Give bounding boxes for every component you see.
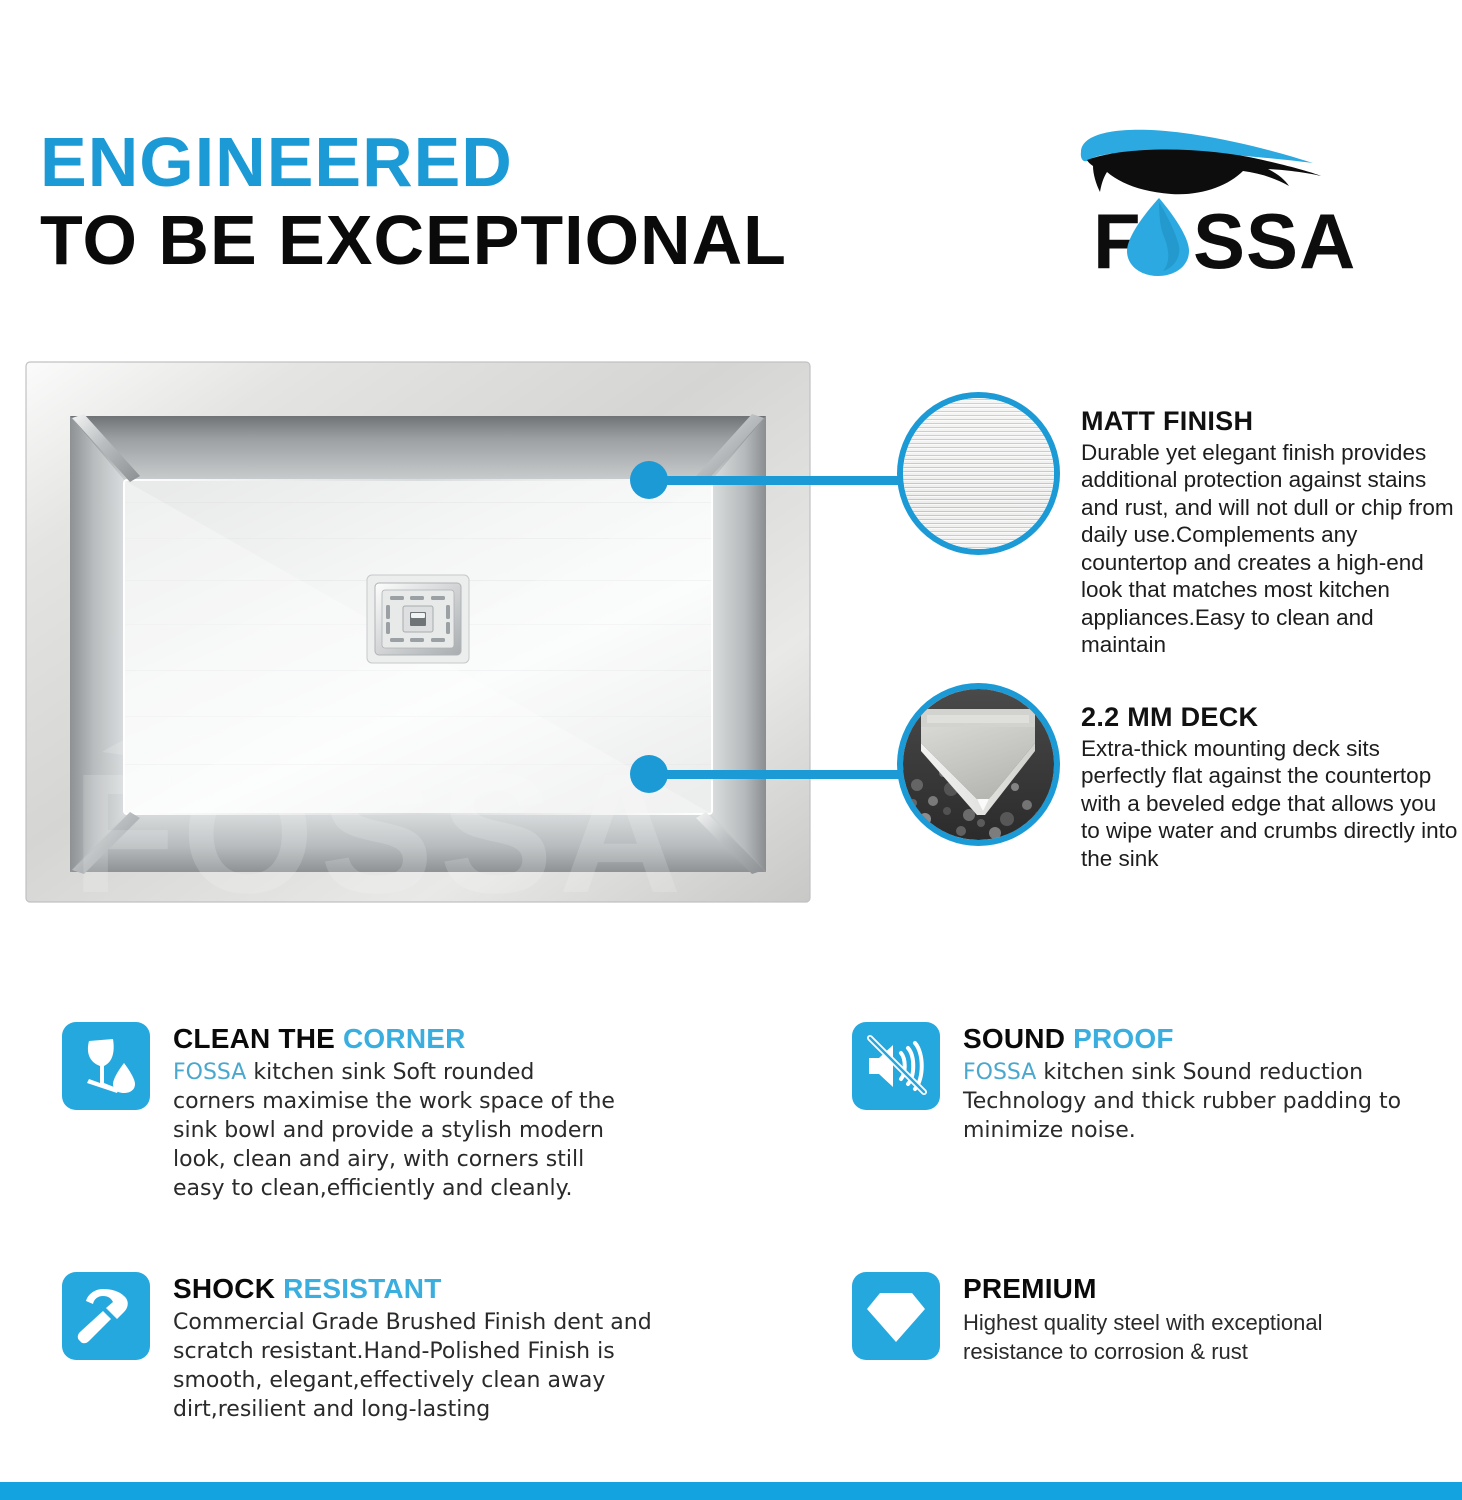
feature-title-black-part: SHOCK	[173, 1273, 283, 1304]
fossa-logo: F SSA	[1063, 116, 1363, 286]
diamond-icon	[852, 1272, 940, 1360]
feature-body-shock-resistant: Commercial Grade Brushed Finish dent and…	[173, 1308, 682, 1424]
watermark: FOSSA	[72, 708, 688, 912]
callout-body-matt-finish: Durable yet elegant finish provides addi…	[1081, 439, 1459, 659]
brand-mention: FOSSA	[173, 1060, 246, 1085]
feature-clean-the-corner: CLEAN THE CORNER FOSSA kitchen sink Soft…	[62, 1022, 622, 1203]
glass-and-water-drop-icon	[62, 1022, 150, 1110]
fossa-logo-mark: F SSA	[1063, 116, 1363, 286]
headline-line-1: ENGINEERED	[40, 128, 920, 197]
feature-title-black-part: PREMIUM	[963, 1273, 1097, 1304]
feature-title-blue-part: CORNER	[343, 1023, 466, 1054]
feature-shock-resistant: SHOCK RESISTANT Commercial Grade Brushed…	[62, 1272, 682, 1424]
feature-premium: PREMIUM Highest quality steel with excep…	[852, 1272, 1422, 1366]
hammer-icon	[62, 1272, 150, 1360]
feature-title-shock-resistant: SHOCK RESISTANT	[173, 1274, 682, 1305]
feature-text-sound-proof: SOUND PROOF FOSSA kitchen sink Sound red…	[963, 1022, 1422, 1145]
leader-dot-deck	[630, 755, 668, 793]
feature-sound-proof: SOUND PROOF FOSSA kitchen sink Sound red…	[852, 1022, 1422, 1145]
muted-speaker-icon	[852, 1022, 940, 1110]
brand-mention: FOSSA	[963, 1060, 1036, 1085]
feature-title-clean-the-corner: CLEAN THE CORNER	[173, 1024, 622, 1055]
callout-matt-finish: MATT FINISH Durable yet elegant finish p…	[1081, 406, 1459, 659]
feature-body-clean-the-corner: FOSSA kitchen sink Soft rounded corners …	[173, 1058, 622, 1203]
feature-title-blue-part: RESISTANT	[283, 1273, 441, 1304]
callout-title-deck: 2.2 MM DECK	[1081, 702, 1459, 733]
feature-title-blue-part: PROOF	[1073, 1023, 1174, 1054]
feature-body-sound-proof: FOSSA kitchen sink Sound reduction Techn…	[963, 1058, 1422, 1145]
feature-text-clean-the-corner: CLEAN THE CORNER FOSSA kitchen sink Soft…	[173, 1022, 622, 1203]
page-title: ENGINEERED TO BE EXCEPTIONAL	[40, 128, 920, 278]
matt-finish-thumbnail	[897, 392, 1060, 555]
feature-title-sound-proof: SOUND PROOF	[963, 1024, 1422, 1055]
callout-body-deck: Extra-thick mounting deck sits perfectly…	[1081, 735, 1459, 872]
headline-line-2: TO BE EXCEPTIONAL	[40, 203, 920, 279]
brushed-finish-swatch	[903, 398, 1054, 549]
feature-title-black-part: SOUND	[963, 1023, 1073, 1054]
kitchen-sink-illustration: FOSSA	[12, 352, 824, 912]
callout-deck: 2.2 MM DECK Extra-thick mounting deck si…	[1081, 702, 1459, 872]
deck-thumbnail	[897, 683, 1060, 846]
leader-line-matt-finish	[655, 476, 905, 485]
bottom-accent-bar	[0, 1482, 1462, 1500]
callout-title-matt-finish: MATT FINISH	[1081, 406, 1459, 437]
leader-dot-matt-finish	[630, 461, 668, 499]
feature-title-premium: PREMIUM	[963, 1274, 1422, 1305]
leader-line-deck	[655, 770, 905, 779]
feature-body-premium: Highest quality steel with exceptional r…	[963, 1308, 1422, 1366]
product-image: FOSSA	[12, 352, 824, 912]
feature-text-premium: PREMIUM Highest quality steel with excep…	[963, 1272, 1422, 1366]
svg-text:FOSSA: FOSSA	[72, 739, 688, 912]
feature-text-shock-resistant: SHOCK RESISTANT Commercial Grade Brushed…	[173, 1272, 682, 1424]
feature-title-black-part: CLEAN THE	[173, 1023, 343, 1054]
deck-corner-on-granite	[903, 689, 1054, 840]
svg-text:SSA: SSA	[1193, 197, 1356, 285]
